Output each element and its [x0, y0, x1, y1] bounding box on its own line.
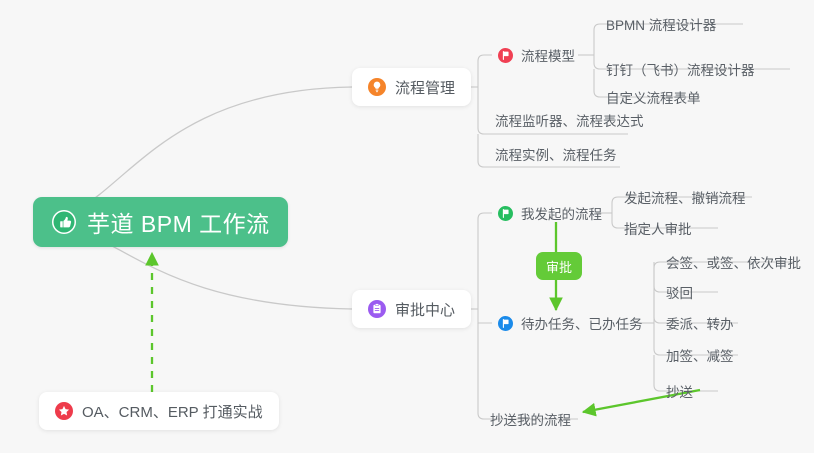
node-cc-to-me-process[interactable]: 抄送我的流程 — [484, 406, 577, 432]
node-label: 驳回 — [666, 282, 693, 302]
node-label: 待办任务、已办任务 — [521, 313, 643, 333]
node-label: BPMN 流程设计器 — [606, 14, 716, 34]
mindmap-canvas: 待办任务 (vertical, passes behind tag) --> 芋… — [0, 0, 814, 453]
branch-node-label: 流程管理 — [395, 77, 455, 98]
node-add-remove-sign[interactable]: 加签、减签 — [660, 342, 740, 368]
node-label: 我发起的流程 — [521, 203, 602, 223]
node-todo-done-tasks[interactable]: 待办任务、已办任务 — [492, 310, 649, 336]
node-process-instance-task[interactable]: 流程实例、流程任务 — [489, 141, 623, 167]
node-label: 钉钉（飞书）流程设计器 — [606, 59, 755, 79]
clipboard-icon — [368, 300, 386, 318]
star-icon — [55, 402, 73, 420]
node-label: 自定义流程表单 — [606, 87, 701, 107]
annotation-label: OA、CRM、ERP 打通实战 — [82, 401, 263, 422]
node-label: 流程实例、流程任务 — [495, 144, 617, 164]
node-label: 会签、或签、依次审批 — [666, 252, 801, 272]
node-assignee-approval[interactable]: 指定人审批 — [618, 215, 698, 241]
node-process-model[interactable]: 流程模型 — [492, 42, 581, 68]
node-process-listener-expression[interactable]: 流程监听器、流程表达式 — [489, 107, 650, 133]
node-countersign-orsign-sequential[interactable]: 会签、或签、依次审批 — [660, 249, 807, 275]
node-delegate-transfer[interactable]: 委派、转办 — [660, 310, 740, 336]
node-label: 抄送 — [666, 381, 693, 401]
root-node-label: 芋道 BPM 工作流 — [87, 205, 270, 239]
node-label: 流程监听器、流程表达式 — [495, 110, 644, 130]
flag-icon — [498, 316, 513, 331]
annotation-approval-flow-tag[interactable]: 审批 — [536, 252, 582, 280]
lightbulb-icon — [368, 78, 386, 96]
branch-node-process-management[interactable]: 流程管理 — [352, 68, 471, 106]
flag-icon — [498, 206, 513, 221]
node-cc[interactable]: 抄送 — [660, 378, 699, 404]
node-label: 加签、减签 — [666, 345, 734, 365]
node-my-initiated-process[interactable]: 我发起的流程 — [492, 200, 608, 226]
node-label: 流程模型 — [521, 45, 575, 65]
node-bpmn-designer[interactable]: BPMN 流程设计器 — [600, 11, 722, 37]
node-label: 委派、转办 — [666, 313, 734, 333]
node-label: 指定人审批 — [624, 218, 692, 238]
node-start-cancel-process[interactable]: 发起流程、撤销流程 — [618, 184, 752, 210]
node-label: 抄送我的流程 — [490, 409, 571, 429]
node-label: 发起流程、撤销流程 — [624, 187, 746, 207]
thumbs-up-icon — [51, 209, 77, 235]
root-node[interactable]: 芋道 BPM 工作流 — [33, 197, 288, 247]
node-dingtalk-feishu-designer[interactable]: 钉钉（飞书）流程设计器 — [600, 56, 761, 82]
annotation-label: 审批 — [546, 257, 572, 276]
annotation-integration-callout[interactable]: OA、CRM、ERP 打通实战 — [39, 392, 279, 430]
branch-node-approval-center[interactable]: 审批中心 — [352, 290, 471, 328]
node-reject[interactable]: 驳回 — [660, 279, 699, 305]
branch-node-label: 审批中心 — [395, 299, 455, 320]
flag-icon — [498, 48, 513, 63]
